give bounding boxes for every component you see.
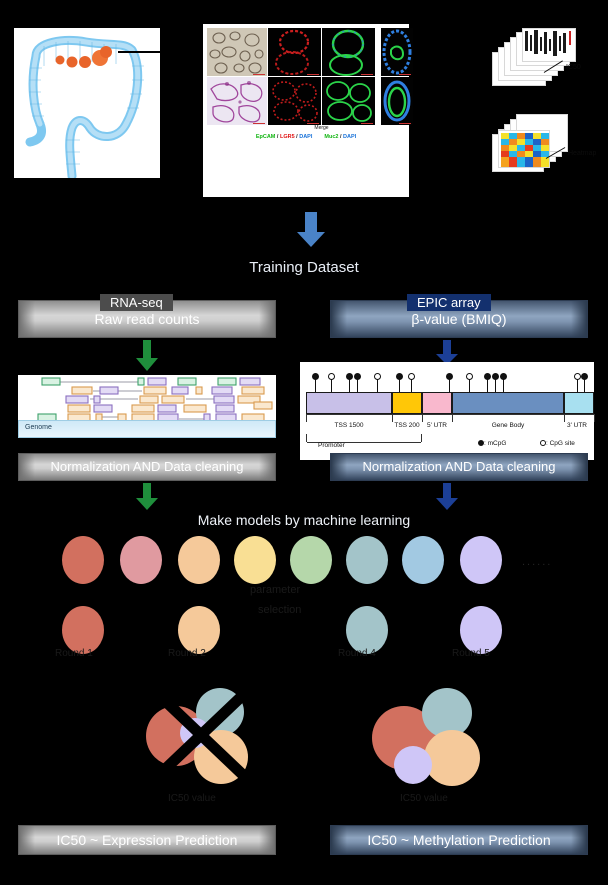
colon-illustration <box>14 28 160 178</box>
lgr5-channel-image-tissue <box>268 77 321 125</box>
arrow-rna-to-reads <box>135 340 159 377</box>
gene-regions-track <box>306 392 594 414</box>
model-circle-5 <box>290 536 332 584</box>
methylation-prediction-label: IC50 ~ Methylation Prediction <box>367 832 550 848</box>
parameter-caption-bottom: selection <box>258 604 301 616</box>
label-tss200: TSS 200 <box>392 422 422 429</box>
expression-prediction-box: IC50 ~ Expression Prediction <box>18 825 276 855</box>
colon-illustration-panel <box>14 28 160 178</box>
model-circle-3 <box>178 536 220 584</box>
region-gene-body <box>452 392 564 414</box>
epic-beta-value-label: β-value (BMIQ) <box>411 311 506 327</box>
muc2-dapi-image-top <box>381 28 413 76</box>
promoter-label: Promoter <box>318 442 345 449</box>
round-circle-4 <box>346 606 388 654</box>
gene-structure-panel: TSS 1500 TSS 200 5' UTR Gene Body 3' UTR… <box>300 362 594 460</box>
round-circle-1 <box>62 606 104 654</box>
label-5utr: 5' UTR <box>422 422 452 429</box>
model-circle-8 <box>460 536 502 584</box>
label-tss1500: TSS 1500 <box>306 422 392 429</box>
methylation-prediction-box: IC50 ~ Methylation Prediction <box>330 825 588 855</box>
winner-circle-right-3 <box>424 730 480 786</box>
ic50-stack-label: IC50 <box>566 64 581 71</box>
epic-array-chip: EPIC array <box>407 294 491 311</box>
legend-mcpg: : mCpG <box>478 440 506 447</box>
legend-cpg-site: : CpG site <box>540 440 575 447</box>
brightfield-organoid-image <box>207 28 267 76</box>
region-5utr <box>422 392 452 414</box>
lgr5-channel-image <box>268 28 321 76</box>
heatmap-stack-label: Heatmap <box>568 150 596 157</box>
label-gene-body: Gene Body <box>452 422 564 429</box>
muc2-dapi-image-bottom <box>381 77 413 125</box>
genome-reference-band: Genome <box>18 420 276 438</box>
model-circles-ellipsis: ...... <box>522 556 552 568</box>
normalization-box-left: Normalization AND Data cleaning <box>18 453 276 481</box>
label-3utr: 3' UTR <box>562 422 592 429</box>
rna-seq-chip: RNA-seq <box>100 294 173 311</box>
rna-raw-counts-label: Raw read counts <box>94 311 199 327</box>
model-circle-4 <box>234 536 276 584</box>
round-label-5: Round 5 <box>452 648 490 659</box>
genome-label: Genome <box>25 424 52 431</box>
merge-channel-image-tissue <box>322 77 375 125</box>
figure-canvas: Merge EpCAM / LGR5 / DAPI Muc2 / DAPI <box>0 0 608 885</box>
round-label-2: Round 2 <box>168 648 206 659</box>
winner-cluster-right <box>372 688 492 788</box>
caption-muc2-dapi: Muc2 / DAPI <box>324 134 356 140</box>
training-dataset-arrow <box>296 212 326 248</box>
merge-channel-image <box>322 28 375 76</box>
round-circle-2 <box>178 606 220 654</box>
rejected-cross-icon <box>146 690 262 780</box>
microscopy-panel: Merge EpCAM / LGR5 / DAPI Muc2 / DAPI <box>203 24 409 197</box>
he-histology-image <box>207 77 267 125</box>
parameter-caption-top: parameter <box>250 584 300 596</box>
winner-circle-right-4 <box>394 746 432 784</box>
round-label-1: Round 1 <box>55 648 93 659</box>
caption-epcam-lgr5-dapi: EpCAM / LGR5 / DAPI <box>256 134 313 140</box>
model-circle-7 <box>402 536 444 584</box>
cpg-marks-layer <box>306 372 588 392</box>
model-circle-2 <box>120 536 162 584</box>
ml-heading: Make models by machine learning <box>0 512 608 528</box>
region-tss200 <box>392 392 422 414</box>
ic50-sheet-stack: IC50 <box>492 28 576 88</box>
heatmap-stack: Heatmap <box>492 110 576 172</box>
microscopy-caption: EpCAM / LGR5 / DAPI Muc2 / DAPI <box>207 131 405 140</box>
expression-prediction-label: IC50 ~ Expression Prediction <box>57 832 238 848</box>
normalization-label-left: Normalization AND Data cleaning <box>51 460 244 475</box>
normalization-box-right: Normalization AND Data cleaning <box>330 453 588 481</box>
model-circle-6 <box>346 536 388 584</box>
ic50-value-label-right: IC50 value <box>400 793 448 804</box>
ic50-value-label-left: IC50 value <box>168 793 216 804</box>
merge-label: Merge <box>268 125 375 131</box>
normalization-label-right: Normalization AND Data cleaning <box>363 460 556 475</box>
training-dataset-title: Training Dataset <box>0 259 608 276</box>
round-label-4: Round 4 <box>338 648 376 659</box>
promoter-bracket <box>306 434 422 442</box>
tumor-nodules <box>56 46 113 68</box>
round-circle-5 <box>460 606 502 654</box>
model-circle-1 <box>62 536 104 584</box>
region-tss1500 <box>306 392 392 414</box>
region-3utr <box>564 392 594 414</box>
